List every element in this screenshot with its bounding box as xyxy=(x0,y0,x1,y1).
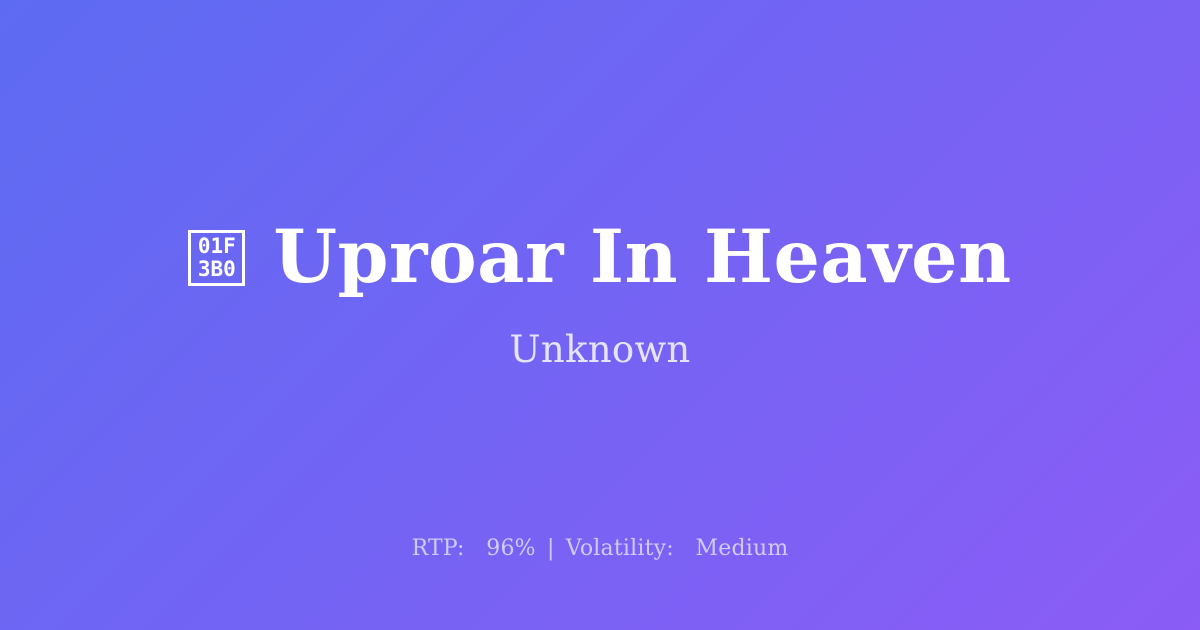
title-row: 01F 3B0 Uproar In Heaven xyxy=(188,221,1011,294)
rtp-label: RTP: xyxy=(412,536,465,561)
provider-subtitle: Unknown xyxy=(509,330,690,371)
hero-block: 01F 3B0 Uproar In Heaven Unknown xyxy=(0,221,1200,371)
game-stats-line: RTP: 96% | Volatility: Medium xyxy=(0,536,1200,562)
volatility-label: Volatility: xyxy=(566,536,674,561)
slot-machine-icon-codepoint-high: 01F xyxy=(198,235,236,258)
rtp-value: 96% xyxy=(486,536,536,561)
slot-machine-icon: 01F 3B0 xyxy=(188,230,245,286)
og-share-card: 01F 3B0 Uproar In Heaven Unknown RTP: 96… xyxy=(0,0,1200,630)
stats-separator: | xyxy=(543,536,559,561)
slot-machine-icon-codepoint-low: 3B0 xyxy=(198,258,236,281)
volatility-value: Medium xyxy=(696,536,789,561)
page-title: Uproar In Heaven xyxy=(273,221,1011,294)
